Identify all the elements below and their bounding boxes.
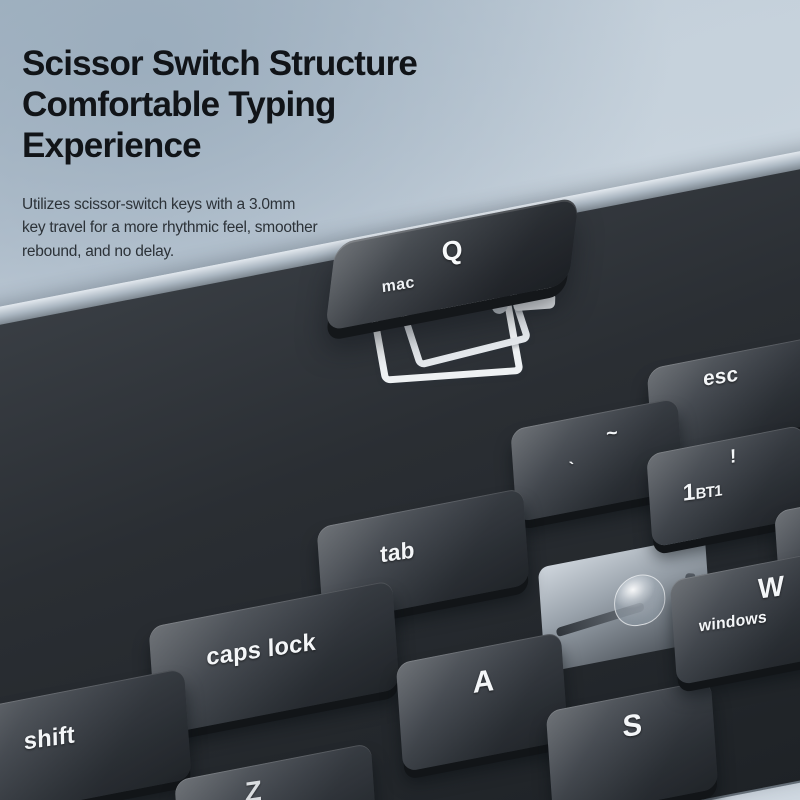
key-esc-label: esc: [703, 363, 739, 392]
key-s-label: S: [622, 708, 643, 745]
keycap-mac-label: mac: [381, 274, 416, 297]
key-caps-lock-label: caps lock: [206, 628, 316, 672]
key-tilde-top-label: ~: [606, 422, 618, 447]
key-shift-label: shift: [24, 721, 75, 757]
key-w-top-label: W: [758, 570, 785, 606]
scissor-arm-lower: [513, 292, 555, 311]
key-a-label: A: [472, 664, 494, 701]
key-1-bottom-label: 1BT1: [683, 474, 723, 507]
key-1-bluetooth-label: BT1: [695, 482, 722, 503]
key-tilde-bottom-label: `: [569, 458, 575, 479]
marketing-copy: Scissor Switch Structure Comfortable Typ…: [22, 44, 452, 263]
rubber-dome: [612, 570, 667, 630]
product-feature-image: esc ~ ` ! 1BT1 tab W windows caps lock A…: [0, 0, 800, 800]
key-z-label: Z: [245, 775, 263, 800]
description-text: Utilizes scissor-switch keys with a 3.0m…: [22, 193, 452, 264]
key-1-top-label: !: [730, 446, 737, 469]
key-w-windows-label: windows: [699, 609, 767, 637]
key-tab-label: tab: [380, 536, 415, 568]
page-title: Scissor Switch Structure Comfortable Typ…: [22, 44, 452, 167]
